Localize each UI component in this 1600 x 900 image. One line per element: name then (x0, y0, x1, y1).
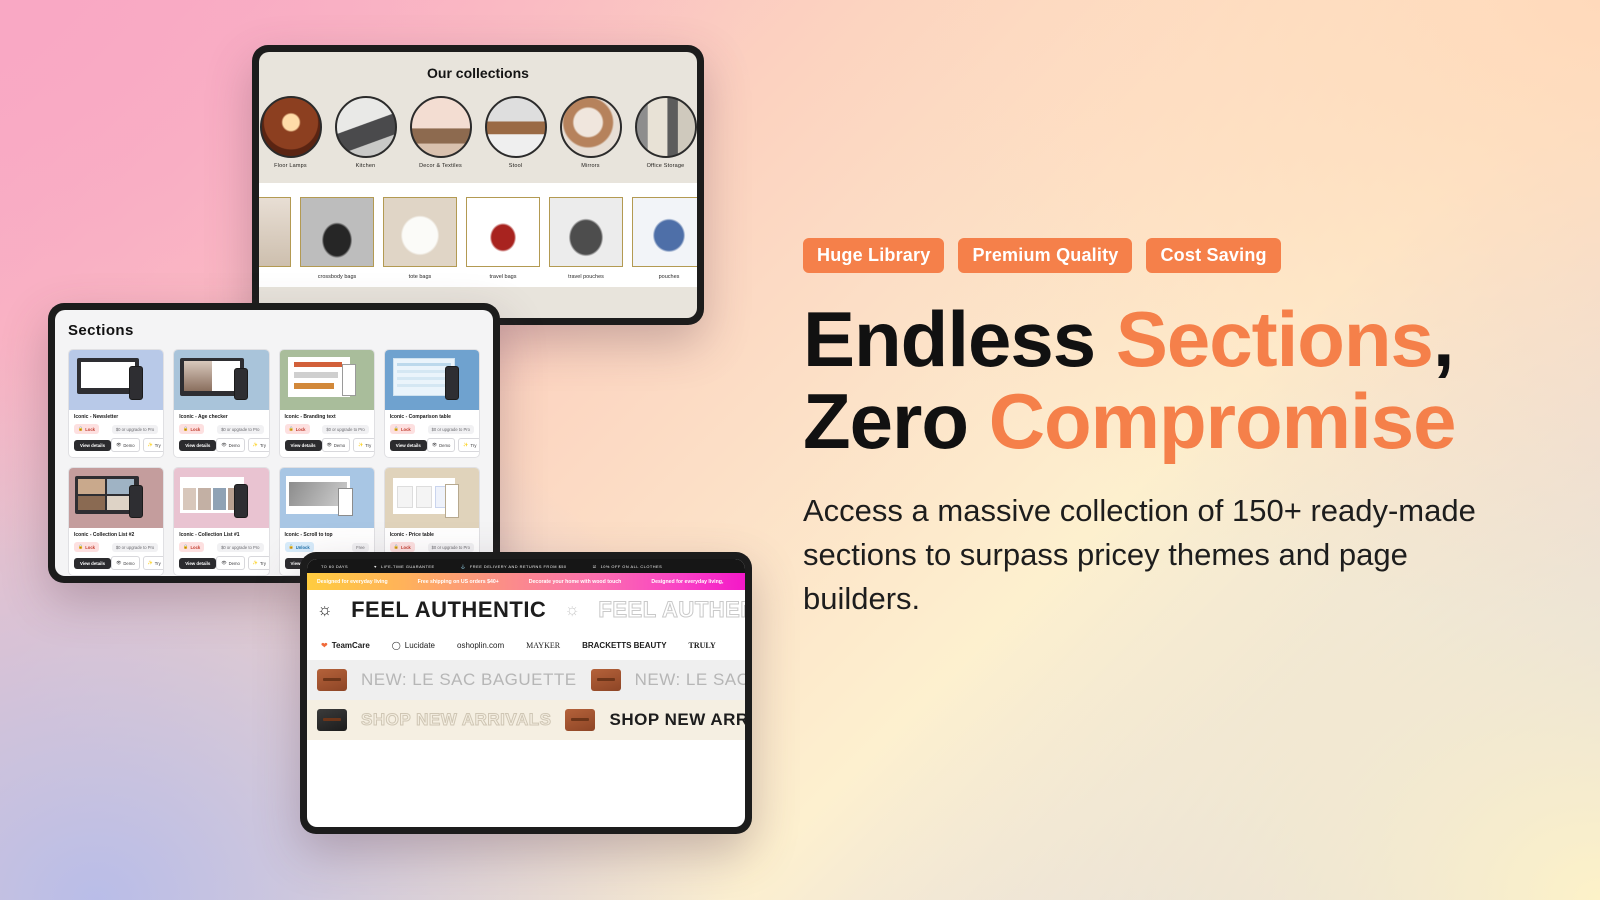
product-label: pouches (632, 274, 697, 280)
product-label: travel pouches (549, 274, 623, 280)
lock-icon: 🔒 (394, 426, 399, 432)
shield-icon: ♥ (374, 564, 377, 569)
announcement-item: ☑10% OFF ON ALL CLOTHES (593, 564, 663, 569)
section-price: $0 or upgrade to Pro (112, 543, 158, 552)
category-label: Stool (485, 163, 547, 169)
sun-icon-outline: ☼ (564, 600, 580, 620)
category-item[interactable]: Office Storage (635, 96, 697, 169)
demo-button[interactable]: 👁Demo (111, 556, 140, 570)
product-thumb-tote-bags (383, 197, 457, 267)
section-name: Iconic - Collection List #2 (74, 532, 158, 538)
section-card[interactable]: Iconic - Collection List #2 🔒Lock $0 or … (68, 467, 164, 576)
section-card[interactable]: Iconic - Branding text 🔒Lock $0 or upgra… (279, 349, 375, 458)
category-thumb-floor-lamps (260, 96, 322, 158)
try-button[interactable]: ✨Try (248, 556, 270, 570)
announcement-bar-gradient: Designed for everyday living Free shippi… (307, 573, 745, 590)
eye-icon: 👁 (327, 442, 332, 448)
lock-icon: 🔒 (183, 544, 188, 550)
section-meta: 🔒Lock $0 or upgrade to Pro (74, 424, 158, 434)
section-card[interactable]: Iconic - Age checker 🔒Lock $0 or upgrade… (173, 349, 269, 458)
section-preview (280, 468, 374, 528)
section-meta: 🔒Lock $0 or upgrade to Pro (390, 424, 474, 434)
product-item[interactable]: travel pouches (549, 197, 623, 280)
section-info: Iconic - Age checker 🔒Lock $0 or upgrade… (174, 410, 268, 457)
product-thumb-pouches (632, 197, 697, 267)
wand-icon: ✨ (253, 560, 258, 566)
logo-teamcare: ❤TeamCare (321, 641, 370, 650)
category-label: Office Storage (635, 163, 697, 169)
logo-oshoplin: oshoplin.com (457, 641, 504, 650)
section-price: $0 or upgrade to Pro (112, 425, 158, 434)
storefront-screen: TO 60 DAYS ♥LIFE-TIME GUARANTEE ⚓FREE DE… (307, 559, 745, 827)
section-actions: View details 👁Demo ✨Try (285, 438, 369, 452)
wand-icon: ✨ (148, 442, 153, 448)
announcement-item: ♥LIFE-TIME GUARANTEE (374, 564, 434, 569)
logo-bracketts-beauty: BRACKETTS BEAUTY (582, 641, 666, 650)
section-card[interactable]: Iconic - Newsletter 🔒Lock $0 or upgrade … (68, 349, 164, 458)
category-label: Decor & Textiles (410, 163, 472, 169)
product-item[interactable]: tote bags (383, 197, 457, 280)
section-price: $0 or upgrade to Pro (217, 425, 263, 434)
section-name: Iconic - Branding text (285, 414, 369, 420)
product-label: crossbody bags (300, 274, 374, 280)
lock-badge: 🔒Lock (74, 424, 99, 434)
category-item[interactable]: Kitchen (335, 96, 397, 169)
demo-button[interactable]: 👁Demo (111, 438, 140, 452)
section-meta: 🔒Lock $0 or upgrade to Pro (390, 542, 474, 552)
category-item[interactable]: Floor Lamps (260, 96, 322, 169)
section-meta: 🔒Lock $0 or upgrade to Pro (179, 424, 263, 434)
truck-icon: ⚓ (461, 564, 466, 569)
announcement-bar-dark: TO 60 DAYS ♥LIFE-TIME GUARANTEE ⚓FREE DE… (307, 559, 745, 573)
pill-cost-saving: Cost Saving (1146, 238, 1280, 273)
lock-badge: 🔒Lock (285, 424, 310, 434)
circle-icon: ◯ (392, 641, 401, 650)
unlock-icon: 🔓 (289, 544, 294, 550)
section-info: Iconic - Branding text 🔒Lock $0 or upgra… (280, 410, 374, 457)
bag-image-dark (317, 709, 347, 731)
try-button[interactable]: ✨Try (143, 438, 165, 452)
category-thumb-decor-textiles (410, 96, 472, 158)
section-meta: 🔒Lock $0 or upgrade to Pro (285, 424, 369, 434)
section-preview (385, 468, 479, 528)
pill-huge-library: Huge Library (803, 238, 944, 273)
section-price: $0 or upgrade to Pro (428, 425, 474, 434)
section-name: Iconic - Age checker (179, 414, 263, 420)
gradient-item: Designed for everyday living (317, 579, 388, 585)
product-band: crossbody bags tote bags travel bags tra… (259, 183, 697, 287)
product-thumb-travel-pouches (549, 197, 623, 267)
bag-image (317, 669, 347, 691)
wand-icon: ✨ (358, 442, 363, 448)
feel-authentic-marquee: ☼ FEEL AUTHENTIC ☼ FEEL AUTHENTIC (307, 590, 745, 630)
view-details-button[interactable]: View details (179, 558, 216, 569)
collections-title: Our collections (259, 52, 697, 81)
marquee-text-solid: SHOP NEW ARRIVAL (609, 710, 745, 730)
section-actions: View details 👁Demo ✨Try (179, 438, 263, 452)
product-label: tote bags (383, 274, 457, 280)
marquee-text: NEW: LE SAC BAGUETTE (361, 670, 577, 690)
lock-badge: 🔒Lock (179, 542, 204, 552)
feature-pills: Huge Library Premium Quality Cost Saving (803, 238, 1543, 273)
product-item[interactable]: pouches (632, 197, 697, 280)
logo-mayker: MAYKER (526, 641, 560, 650)
product-item[interactable] (259, 197, 291, 280)
section-meta: 🔒Lock $0 or upgrade to Pro (74, 542, 158, 552)
category-thumb-office-storage (635, 96, 697, 158)
bag-image (565, 709, 595, 731)
storefront-mockup: TO 60 DAYS ♥LIFE-TIME GUARANTEE ⚓FREE DE… (300, 552, 752, 834)
lock-icon: 🔒 (78, 426, 83, 432)
bag-image (591, 669, 621, 691)
section-info: Iconic - Collection List #1 🔒Lock $0 or … (174, 528, 268, 575)
sun-icon: ☼ (317, 600, 333, 620)
tag-icon: ☑ (593, 564, 597, 569)
section-meta: 🔒Lock $0 or upgrade to Pro (179, 542, 263, 552)
category-thumb-mirrors (560, 96, 622, 158)
section-info: Iconic - Newsletter 🔒Lock $0 or upgrade … (69, 410, 163, 457)
section-preview (69, 350, 163, 410)
section-name: Iconic - Comparison table (390, 414, 474, 420)
category-item[interactable]: Decor & Textiles (410, 96, 472, 169)
section-info: Iconic - Comparison table 🔒Lock $0 or up… (385, 410, 479, 457)
section-info: Iconic - Collection List #2 🔒Lock $0 or … (69, 528, 163, 575)
eye-icon: 👁 (116, 560, 121, 566)
lock-badge: 🔒Lock (390, 542, 415, 552)
lock-icon: 🔒 (289, 426, 294, 432)
headline-line2: Zero Compromise (803, 377, 1455, 465)
view-details-button[interactable]: View details (285, 440, 322, 451)
category-item[interactable]: Stool (485, 96, 547, 169)
pill-premium-quality: Premium Quality (958, 238, 1132, 273)
category-item[interactable]: Mirrors (560, 96, 622, 169)
collections-category-row: Floor Lamps Kitchen Decor & Textiles Sto… (259, 81, 697, 169)
collections-mockup: Our collections Floor Lamps Kitchen Deco… (252, 45, 704, 325)
view-details-button[interactable]: View details (390, 440, 427, 451)
product-thumb-partial (259, 197, 291, 267)
lock-icon: 🔒 (183, 426, 188, 432)
view-details-button[interactable]: View details (74, 558, 111, 569)
section-preview (174, 468, 268, 528)
section-preview (280, 350, 374, 410)
view-details-button[interactable]: View details (179, 440, 216, 451)
unlock-badge: 🔓Unlock (285, 542, 314, 552)
wand-icon: ✨ (463, 442, 468, 448)
section-actions: View details 👁Demo ✨Try (74, 438, 158, 452)
section-card[interactable]: Iconic - Collection List #1 🔒Lock $0 or … (173, 467, 269, 576)
marketing-column: Huge Library Premium Quality Cost Saving… (803, 238, 1543, 621)
heart-icon: ❤ (321, 641, 328, 650)
demo-button[interactable]: 👁Demo (322, 438, 351, 452)
announcement-item: TO 60 DAYS (321, 564, 348, 569)
section-card[interactable]: Iconic - Comparison table 🔒Lock $0 or up… (384, 349, 480, 458)
product-label: travel bags (466, 274, 540, 280)
view-details-button[interactable]: View details (74, 440, 111, 451)
product-thumb-crossbody-bags (300, 197, 374, 267)
page-title: Endless Sections, Zero Compromise (803, 299, 1543, 463)
demo-button[interactable]: 👁Demo (216, 438, 245, 452)
try-button[interactable]: ✨Try (248, 438, 270, 452)
product-item[interactable]: travel bags (466, 197, 540, 280)
category-label: Floor Lamps (260, 163, 322, 169)
wand-icon: ✨ (253, 442, 258, 448)
demo-button[interactable]: 👁Demo (427, 438, 456, 452)
try-button[interactable]: ✨Try (458, 438, 480, 452)
category-thumb-stool (485, 96, 547, 158)
lock-icon: 🔒 (394, 544, 399, 550)
gradient-item: Decorate your home with wood touch (529, 579, 622, 585)
marquee-text-outline: FEEL AUTHENTIC (598, 597, 745, 623)
lock-badge: 🔒Lock (390, 424, 415, 434)
sections-screen: Sections Iconic - Newsletter 🔒Lock $0 or… (55, 310, 493, 576)
demo-button[interactable]: 👁Demo (216, 556, 245, 570)
sections-title: Sections (68, 322, 480, 339)
collections-screen: Our collections Floor Lamps Kitchen Deco… (259, 52, 697, 318)
section-preview (385, 350, 479, 410)
section-price: Free (352, 543, 369, 552)
section-actions: View details 👁Demo ✨Try (179, 556, 263, 570)
section-meta: 🔓Unlock Free (285, 542, 369, 552)
section-preview (174, 350, 268, 410)
lock-icon: 🔒 (78, 544, 83, 550)
eye-icon: 👁 (116, 442, 121, 448)
wand-icon: ✨ (148, 560, 153, 566)
marquee-text-solid: FEEL AUTHENTIC (351, 597, 546, 623)
section-actions: View details 👁Demo ✨Try (390, 438, 474, 452)
marquee-text: NEW: LE SAC BAG (635, 670, 745, 690)
section-name: Iconic - Newsletter (74, 414, 158, 420)
section-actions: View details 👁Demo ✨Try (74, 556, 158, 570)
section-name: Iconic - Collection List #1 (179, 532, 263, 538)
eye-icon: 👁 (221, 560, 226, 566)
logo-truly: TRULY (689, 641, 716, 650)
sections-grid: Iconic - Newsletter 🔒Lock $0 or upgrade … (68, 349, 480, 576)
gradient-item: Free shipping on US orders $40+ (418, 579, 499, 585)
section-preview (69, 468, 163, 528)
lock-badge: 🔒Lock (179, 424, 204, 434)
section-name: Iconic - Price table (390, 532, 474, 538)
category-thumb-kitchen (335, 96, 397, 158)
logo-lucidate: ◯Lucidate (392, 641, 435, 650)
page-subtitle: Access a massive collection of 150+ read… (803, 489, 1503, 621)
shop-arrivals-marquee: SHOP NEW ARRIVALS SHOP NEW ARRIVAL (307, 700, 745, 740)
headline-line1: Endless Sections, (803, 295, 1454, 383)
sections-mockup: Sections Iconic - Newsletter 🔒Lock $0 or… (48, 303, 500, 583)
product-row: crossbody bags tote bags travel bags tra… (259, 197, 697, 280)
product-thumb-travel-bags (466, 197, 540, 267)
announcement-item: ⚓FREE DELIVERY AND RETURNS FROM $50 (461, 564, 567, 569)
hero-stage: Our collections Floor Lamps Kitchen Deco… (0, 0, 1600, 900)
brand-logo-strip: ❤TeamCare ◯Lucidate oshoplin.com MAYKER … (307, 630, 745, 660)
eye-icon: 👁 (432, 442, 437, 448)
lock-badge: 🔒Lock (74, 542, 99, 552)
section-price: $0 or upgrade to Pro (322, 425, 368, 434)
eye-icon: 👁 (221, 442, 226, 448)
new-product-marquee: NEW: LE SAC BAGUETTE NEW: LE SAC BAG (307, 660, 745, 700)
try-button[interactable]: ✨Try (353, 438, 375, 452)
category-label: Mirrors (560, 163, 622, 169)
product-item[interactable]: crossbody bags (300, 197, 374, 280)
marquee-text-outline: SHOP NEW ARRIVALS (361, 710, 551, 730)
try-button[interactable]: ✨Try (143, 556, 165, 570)
section-price: $0 or upgrade to Pro (217, 543, 263, 552)
category-label: Kitchen (335, 163, 397, 169)
gradient-item: Designed for everyday living, (651, 579, 723, 585)
section-name: Iconic - Scroll to top (285, 532, 369, 538)
section-price: $0 or upgrade to Pro (428, 543, 474, 552)
